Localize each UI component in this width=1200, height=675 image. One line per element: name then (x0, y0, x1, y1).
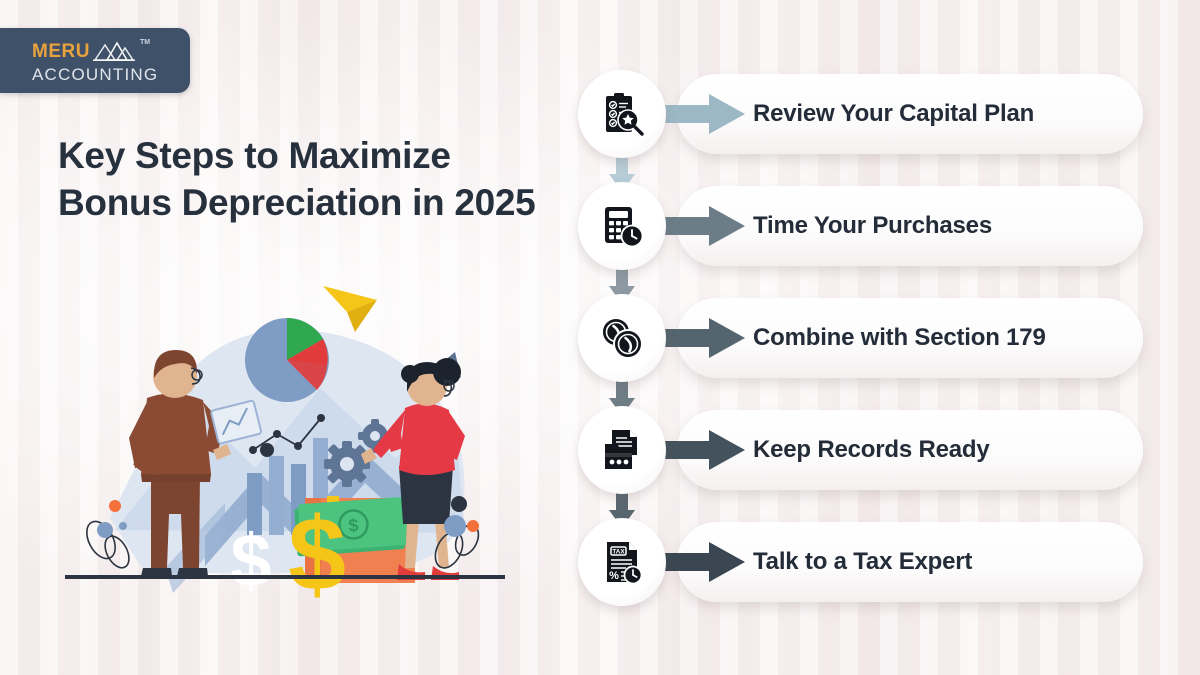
documents-folder-icon (578, 406, 666, 494)
svg-text:$: $ (348, 515, 359, 536)
calculator-clock-icon (578, 182, 666, 270)
step-item-1[interactable]: Review Your Capital Plan (573, 66, 1143, 162)
tax-document-clock-icon: TAX % (578, 518, 666, 606)
brand-logo[interactable]: MERU TM ACCOUNTING (0, 28, 190, 93)
svg-text:$: $ (288, 497, 346, 598)
step-label-3: Combine with Section 179 (753, 290, 1046, 386)
overlapping-coins-icon (578, 294, 666, 382)
step-label-5: Talk to a Tax Expert (753, 514, 972, 610)
step-item-3[interactable]: Combine with Section 179 (573, 290, 1143, 386)
page-title: Key Steps to Maximize Bonus Depreciation… (58, 133, 558, 227)
logo-secondary-text: ACCOUNTING (32, 66, 190, 83)
step-item-4[interactable]: Keep Records Ready (573, 402, 1143, 498)
trademark-mark: TM (140, 39, 150, 46)
logo-top-row: MERU TM (32, 39, 190, 61)
step-label-1: Review Your Capital Plan (753, 66, 1034, 162)
logo-primary-text: MERU (32, 42, 90, 61)
mountain-icon (93, 41, 135, 61)
clipboard-checklist-magnifier-icon (578, 70, 666, 158)
svg-text:$: $ (230, 519, 271, 598)
step-label-4: Keep Records Ready (753, 402, 990, 498)
svg-text:TAX: TAX (612, 549, 625, 556)
step-item-2[interactable]: Time Your Purchases (573, 178, 1143, 274)
business-analytics-illustration: $ $ $ $ (55, 268, 515, 598)
step-item-5[interactable]: TAX % Talk to a Tax Expert (573, 514, 1143, 610)
step-label-2: Time Your Purchases (753, 178, 992, 274)
steps-list: Review Your Capital Plan (573, 66, 1143, 618)
svg-text:%: % (609, 570, 619, 582)
